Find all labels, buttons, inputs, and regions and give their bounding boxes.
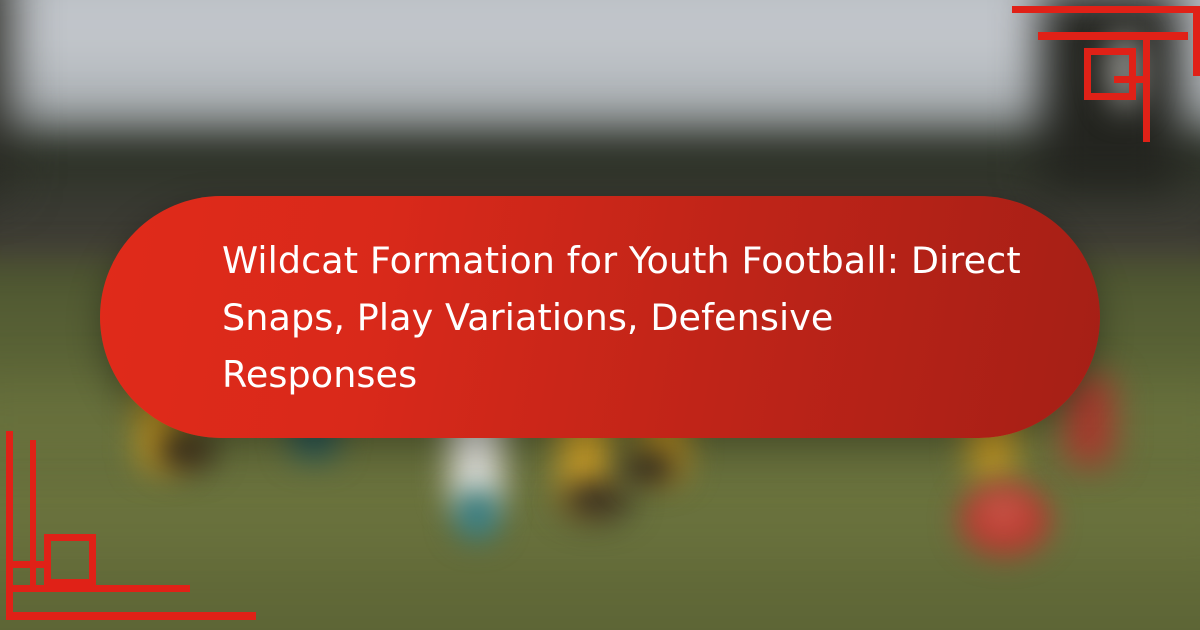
photo-blob-player-sock-teal bbox=[455, 490, 499, 540]
page-title: Wildcat Formation for Youth Football: Di… bbox=[100, 232, 1082, 403]
ornament-connector bbox=[12, 561, 46, 568]
ornament-hline-long bbox=[12, 585, 190, 592]
ornament-hline-short bbox=[6, 612, 256, 620]
ornament-hline-long bbox=[1012, 6, 1200, 13]
photo-blob-left bbox=[0, 0, 10, 190]
ornament-square-icon bbox=[44, 534, 96, 586]
ornament-square-icon bbox=[1084, 48, 1136, 100]
ornament-vline-edge bbox=[1193, 6, 1200, 76]
photo-blob-player-cleat bbox=[620, 450, 678, 486]
social-card-canvas: Wildcat Formation for Youth Football: Di… bbox=[0, 0, 1200, 630]
ornament-vline-long bbox=[1143, 34, 1150, 142]
photo-blob-football-shine bbox=[980, 495, 1026, 529]
photo-blob-player-cleat bbox=[560, 480, 630, 520]
title-card: Wildcat Formation for Youth Football: Di… bbox=[100, 196, 1100, 438]
ornament-hline-short bbox=[1038, 32, 1188, 40]
